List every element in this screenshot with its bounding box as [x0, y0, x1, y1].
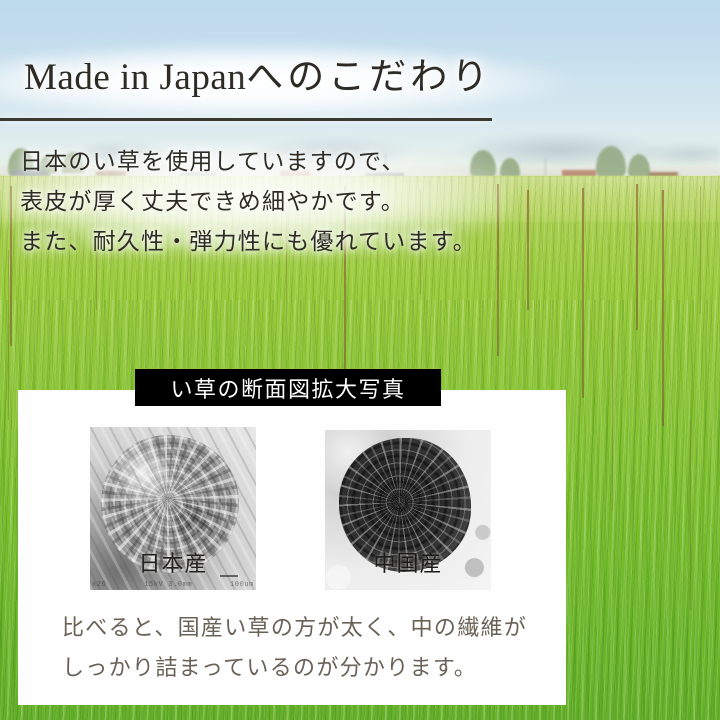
lead-paragraph: 日本のい草を使用していますので、 表皮が厚く丈夫できめ細やかです。 また、耐久性…	[20, 142, 520, 262]
sem-metadata-center: 15kV 3.0mm	[144, 581, 192, 589]
sem-metadata-left: x26	[92, 581, 106, 589]
sem-metadata-right: 100um	[230, 581, 254, 589]
section-banner-label: い草の断面図拡大写真	[170, 372, 405, 404]
title-divider	[0, 118, 492, 121]
photo-field-stake	[700, 186, 701, 314]
lead-line-1: 日本のい草を使用していますので、	[20, 142, 520, 182]
sem-scale-bar	[220, 575, 238, 577]
panel-caption-line-2: しっかり詰まっているのが分かります。	[62, 648, 532, 688]
photo-field-stake	[690, 420, 691, 610]
panel-caption-line-1: 比べると、国産い草の方が太く、中の繊維が	[62, 608, 532, 648]
photo-utility-pole	[545, 158, 546, 178]
sem-photo-chinese: 中国産	[325, 430, 491, 590]
photo-field-stake	[8, 250, 9, 420]
sem-label-japanese: 日本産	[90, 546, 256, 578]
page-title: Made in Japanへのこだわり	[24, 54, 492, 102]
panel-caption: 比べると、国産い草の方が太く、中の繊維が しっかり詰まっているのが分かります。	[62, 608, 532, 688]
page-title-latin: Made in Japan	[24, 57, 246, 98]
section-banner: い草の断面図拡大写真	[135, 369, 441, 406]
sem-label-chinese: 中国産	[325, 546, 491, 578]
photo-field-stake	[582, 188, 584, 398]
sem-metadata: x26 15kV 3.0mm 100um	[92, 581, 254, 589]
lead-line-3: また、耐久性・弾力性にも優れています。	[20, 222, 520, 262]
photo-field-stake	[636, 184, 638, 330]
photo-field-stake	[662, 190, 664, 426]
page-title-japanese: へのこだわり	[246, 57, 492, 98]
photo-field-stake	[612, 330, 613, 510]
sem-scale-bar	[463, 577, 477, 579]
lead-line-2: 表皮が厚く丈夫できめ細やかです。	[20, 182, 520, 222]
sem-photo-japanese: 日本産 x26 15kV 3.0mm 100um	[90, 427, 256, 590]
promo-banner-page: Made in Japanへのこだわり 日本のい草を使用していますので、 表皮が…	[0, 0, 720, 720]
photo-field-stake	[527, 190, 529, 310]
